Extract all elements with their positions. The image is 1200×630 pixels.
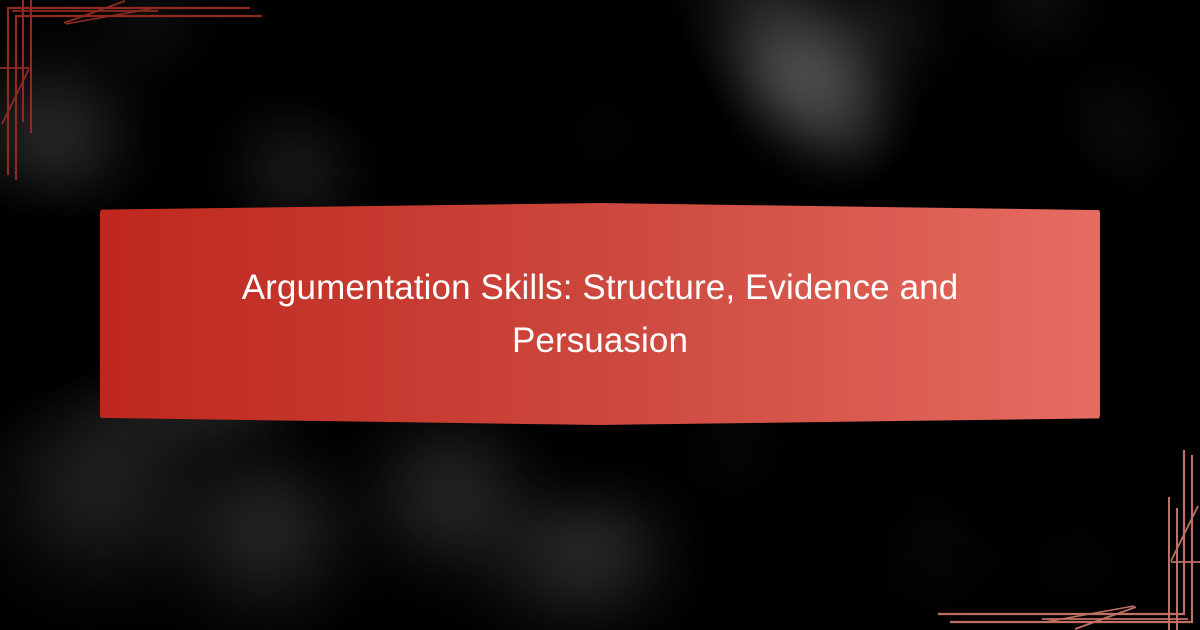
title-banner: Argumentation Skills: Structure, Evidenc… [100,203,1100,425]
social-share-card: Argumentation Skills: Structure, Evidenc… [0,0,1200,630]
page-title: Argumentation Skills: Structure, Evidenc… [205,261,995,367]
